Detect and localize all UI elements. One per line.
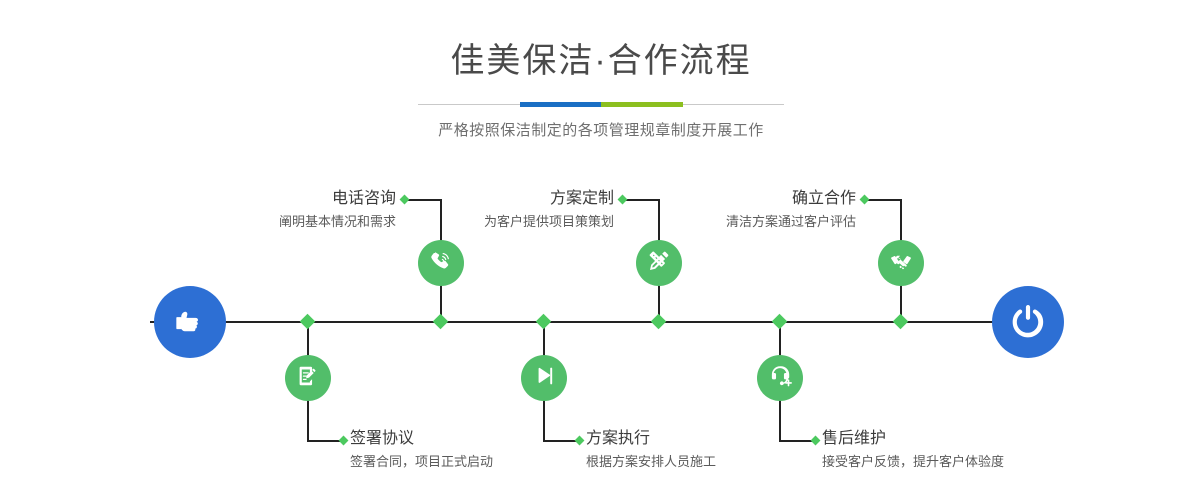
handshake-icon bbox=[888, 248, 914, 279]
phone-call-icon bbox=[428, 248, 454, 279]
document-sign-icon bbox=[295, 363, 321, 394]
label-step-1: 电话咨询 阐明基本情况和需求 bbox=[181, 190, 396, 230]
timeline-axis bbox=[150, 321, 1060, 323]
tip-step-3 bbox=[618, 195, 628, 205]
label-step-4-desc: 根据方案安排人员施工 bbox=[586, 454, 846, 470]
axis-diamond-step-4 bbox=[536, 314, 552, 330]
timeline-end-node[interactable] bbox=[992, 286, 1064, 358]
axis-diamond-step-3 bbox=[651, 314, 667, 330]
axis-diamond-step-6 bbox=[772, 314, 788, 330]
label-step-5-desc: 清洁方案通过客户评估 bbox=[641, 214, 856, 230]
customer-service-add-icon bbox=[767, 363, 793, 394]
leg-step-4 bbox=[543, 440, 578, 442]
power-button-icon bbox=[1008, 300, 1048, 345]
axis-diamond-step-5 bbox=[893, 314, 909, 330]
play-execute-icon bbox=[531, 363, 557, 394]
label-step-5-title: 确立合作 bbox=[641, 190, 856, 208]
label-step-2-desc: 签署合同，项目正式启动 bbox=[350, 454, 610, 470]
timeline-start-node[interactable] bbox=[154, 286, 226, 358]
node-step-5[interactable] bbox=[878, 240, 924, 286]
pencil-ruler-icon bbox=[646, 248, 672, 279]
label-step-2: 签署协议 签署合同，项目正式启动 bbox=[350, 430, 610, 470]
axis-diamond-step-2 bbox=[300, 314, 316, 330]
node-step-1[interactable] bbox=[418, 240, 464, 286]
leg-step-5 bbox=[866, 199, 901, 201]
leg-step-2 bbox=[307, 440, 342, 442]
label-step-3-desc: 为客户提供项目策策划 bbox=[399, 214, 614, 230]
axis-diamond-step-1 bbox=[433, 314, 449, 330]
tip-step-2 bbox=[339, 436, 349, 446]
label-step-3-title: 方案定制 bbox=[399, 190, 614, 208]
node-step-6[interactable] bbox=[757, 355, 803, 401]
node-step-4[interactable] bbox=[521, 355, 567, 401]
flowchart-page: 佳美保洁·合作流程 严格按照保洁制定的各项管理规章制度开展工作 bbox=[0, 0, 1202, 502]
label-step-6-title: 售后维护 bbox=[822, 430, 1102, 448]
label-step-6: 售后维护 接受客户反馈，提升客户体验度 bbox=[822, 430, 1102, 470]
node-step-2[interactable] bbox=[285, 355, 331, 401]
timeline: 电话咨询 阐明基本情况和需求 方案定制 为客户提供项目策策划 bbox=[0, 0, 1202, 502]
leg-step-6 bbox=[779, 440, 814, 442]
pointing-hand-icon bbox=[170, 300, 210, 345]
tip-step-5 bbox=[860, 195, 870, 205]
node-step-3[interactable] bbox=[636, 240, 682, 286]
label-step-6-desc: 接受客户反馈，提升客户体验度 bbox=[822, 454, 1102, 470]
label-step-5: 确立合作 清洁方案通过客户评估 bbox=[641, 190, 856, 230]
label-step-1-title: 电话咨询 bbox=[181, 190, 396, 208]
label-step-3: 方案定制 为客户提供项目策策划 bbox=[399, 190, 614, 230]
label-step-4: 方案执行 根据方案安排人员施工 bbox=[586, 430, 846, 470]
label-step-1-desc: 阐明基本情况和需求 bbox=[181, 214, 396, 230]
